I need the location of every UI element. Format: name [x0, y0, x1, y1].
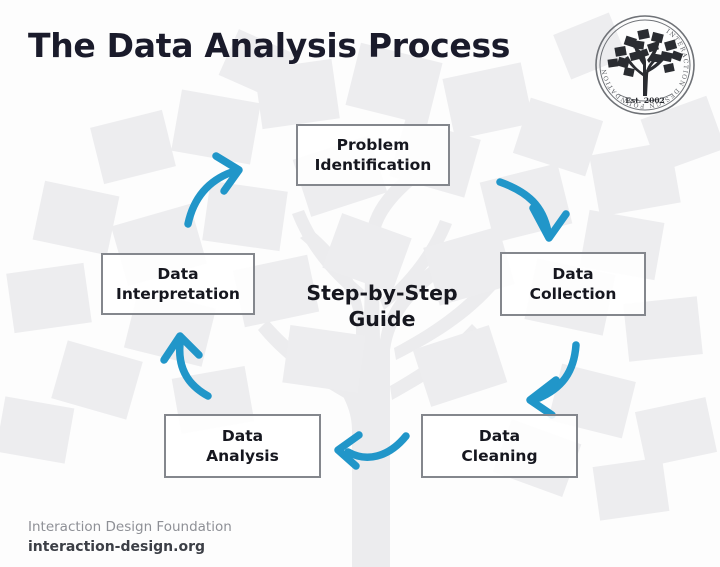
- footer-url[interactable]: interaction-design.org: [28, 538, 232, 558]
- page-title: The Data Analysis Process: [28, 26, 510, 65]
- node-line-2: Analysis: [206, 446, 279, 466]
- arrow-collection-to-cleaning: [530, 345, 576, 415]
- node-line-2: Identification: [315, 155, 432, 175]
- node-line-2: Interpretation: [116, 284, 240, 304]
- footer-organization: Interaction Design Foundation: [28, 518, 232, 538]
- infographic-canvas: The Data Analysis Process INTERACTION DE…: [0, 0, 720, 567]
- arrow-problem-to-collection: [500, 182, 566, 238]
- node-line-2: Cleaning: [461, 446, 537, 466]
- node-line-1: Problem: [315, 135, 432, 155]
- center-label: Step-by-Step Guide: [292, 281, 472, 333]
- process-node-data-collection[interactable]: Data Collection: [500, 252, 646, 316]
- node-line-1: Data: [206, 426, 279, 446]
- node-line-1: Data: [461, 426, 537, 446]
- footer: Interaction Design Foundation interactio…: [28, 518, 232, 557]
- center-label-line-2: Guide: [292, 307, 472, 333]
- process-node-data-analysis[interactable]: Data Analysis: [164, 414, 321, 478]
- process-node-problem-identification[interactable]: Problem Identification: [296, 124, 450, 186]
- interaction-design-foundation-logo: INTERACTION DESIGN FOUNDATION: [594, 14, 696, 116]
- arrow-interpretation-to-problem: [188, 156, 239, 224]
- process-node-data-cleaning[interactable]: Data Cleaning: [421, 414, 578, 478]
- logo-established-text: Est. 2002: [625, 96, 665, 105]
- arrow-analysis-to-interpretation: [164, 336, 208, 396]
- node-line-1: Data: [116, 264, 240, 284]
- arrow-cleaning-to-analysis: [338, 435, 406, 466]
- center-label-line-1: Step-by-Step: [292, 281, 472, 307]
- process-node-data-interpretation[interactable]: Data Interpretation: [101, 253, 255, 315]
- node-line-2: Collection: [530, 284, 617, 304]
- node-line-1: Data: [530, 264, 617, 284]
